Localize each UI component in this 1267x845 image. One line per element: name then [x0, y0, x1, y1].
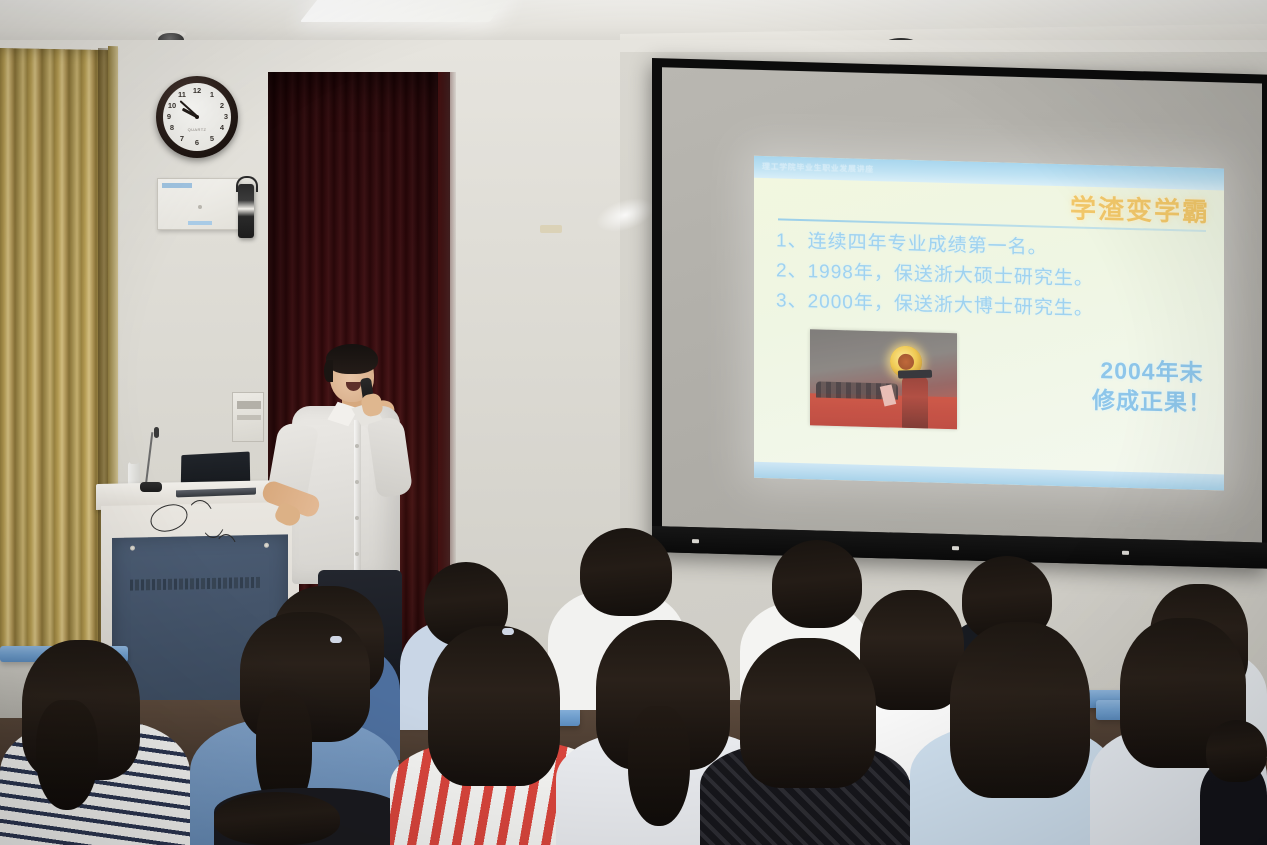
- projection-screen: 理工学院毕业生职业发展讲座 学渣变学霸 1、连续四年专业成绩第一名。 2、199…: [652, 58, 1267, 569]
- slide-callout: 2004年末 修成正果！: [1092, 355, 1212, 418]
- podium-water-bottle-cap: [130, 457, 138, 464]
- screen-bar-marker: [952, 546, 959, 550]
- clock-numeral: 11: [177, 90, 187, 100]
- speaker-hair: [326, 344, 378, 374]
- hair-scrunchie: [502, 628, 514, 635]
- audience-member-hair: [950, 622, 1090, 798]
- breaker-slot-secondary: [237, 415, 261, 420]
- slide-bullet-list: 1、连续四年专业成绩第一名。 2、1998年，保送浙大硕士研究生。 3、2000…: [776, 226, 1214, 328]
- shirt-button: [355, 444, 359, 448]
- podium-screw: [130, 546, 135, 551]
- lecture-hall-photo: 12 1 2 3 4 5 6 7 8 9 10 11 QUARTZ: [0, 0, 1267, 845]
- audience-member-ponytail: [628, 706, 690, 826]
- shirt-button: [355, 480, 359, 484]
- audience-member-head: [772, 540, 862, 628]
- podium-screw: [264, 543, 269, 548]
- clock-numeral: 1: [207, 90, 217, 100]
- clock-numeral: 3: [221, 112, 231, 122]
- slide-graduation-photo: [810, 329, 957, 429]
- clock-numeral: 10: [167, 101, 177, 111]
- photo-emblem-inner: [898, 354, 914, 370]
- slide-footer-band: [754, 462, 1224, 491]
- shirt-button: [355, 552, 359, 556]
- clock-numeral: 4: [217, 123, 227, 133]
- clock-numeral: 9: [164, 112, 174, 122]
- slide-title: 学渣变学霸: [1070, 188, 1210, 229]
- hair-scrunchie: [330, 636, 342, 643]
- breaker-slot: [237, 401, 261, 409]
- projection-screen-surface: 理工学院毕业生职业发展讲座 学渣变学霸 1、连续四年专业成绩第一名。 2、199…: [662, 67, 1262, 542]
- audience-member-head: [580, 528, 672, 616]
- wall-control-panel[interactable]: [157, 178, 239, 230]
- clock-numeral: 8: [167, 123, 177, 133]
- clock-numeral: 6: [192, 138, 202, 148]
- clock-numeral: 2: [217, 101, 227, 111]
- clock-numeral: 12: [192, 86, 202, 96]
- ceiling-light-fixture: [300, 0, 510, 22]
- panel-label-strip-secondary: [188, 221, 212, 225]
- screen-bar-marker: [1122, 551, 1129, 555]
- audience-member-head: [214, 792, 340, 845]
- gooseneck-mic-head: [154, 427, 159, 438]
- panel-label-strip: [162, 183, 192, 188]
- audience-member-hair: [740, 638, 876, 788]
- gooseneck-mic-base: [140, 482, 162, 492]
- clock-numeral: 5: [207, 134, 217, 144]
- shirt-button: [355, 516, 359, 520]
- wall-clock: 12 1 2 3 4 5 6 7 8 9 10 11 QUARTZ: [156, 76, 238, 158]
- clock-numeral: 7: [177, 134, 187, 144]
- panel-indicator-icon: [198, 205, 202, 209]
- clock-brand-text: QUARTZ: [188, 127, 207, 132]
- podium-institution-logo: [130, 577, 260, 591]
- speaker-hair-side: [324, 360, 333, 382]
- electrical-box[interactable]: [232, 392, 264, 442]
- photo-mortarboard-icon: [898, 370, 932, 379]
- audience-member-hair: [428, 626, 560, 786]
- wall-loudspeaker: [238, 184, 254, 238]
- wall-mark: [540, 225, 562, 233]
- clock-center-pin: [195, 115, 199, 119]
- slide-callout-line: 2004年末: [1092, 355, 1212, 388]
- presentation-slide: 理工学院毕业生职业发展讲座 学渣变学霸 1、连续四年专业成绩第一名。 2、199…: [754, 156, 1224, 491]
- photo-graduate-figure: [902, 376, 928, 429]
- audience-member-hair: [860, 590, 964, 710]
- slide-callout-line: 修成正果！: [1092, 385, 1212, 418]
- clock-face: 12 1 2 3 4 5 6 7 8 9 10 11 QUARTZ: [163, 83, 231, 151]
- audience-member-head: [1206, 720, 1267, 782]
- screen-bar-marker: [692, 539, 699, 543]
- audience-member-ponytail: [36, 700, 98, 810]
